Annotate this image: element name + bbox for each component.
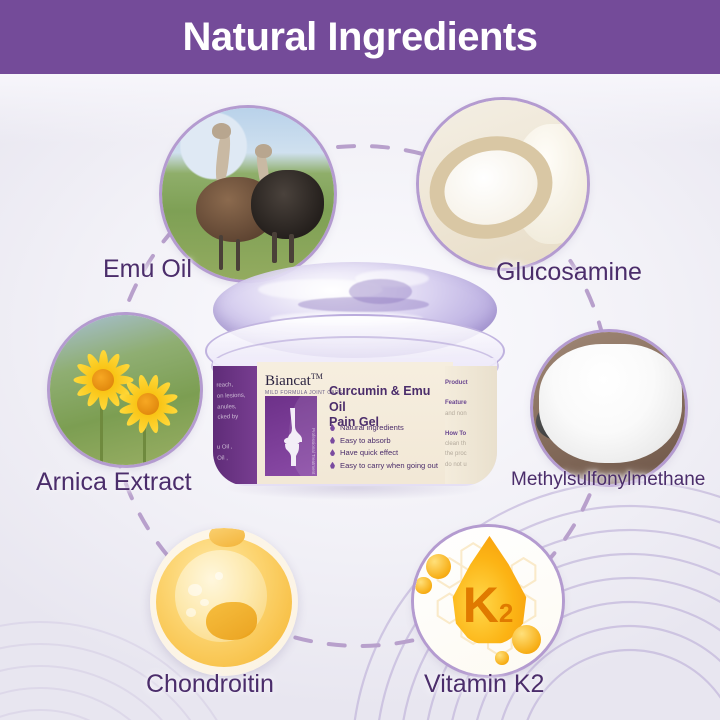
joint-logo-badge: Professional Treatment [265, 396, 317, 476]
label-front-panel: BiancatTM MILD FORMULA JOINT CARE Profes… [257, 362, 453, 484]
logo-side-text: Professional Treatment [311, 428, 316, 474]
ingredient-label-arnica-extract: Arnica Extract [36, 468, 192, 497]
knee-joint-icon [279, 408, 305, 466]
jar-body-label: reach,on lesions,anules,cked by u Oil ,O… [213, 358, 497, 486]
ingredient-bubble-methylsulfonylmethane[interactable] [533, 332, 685, 484]
label-right-panel: Product Feature and non How To clean th … [445, 366, 497, 484]
droplet-label: K2 [414, 580, 562, 630]
ingredient-label-chondroitin: Chondroitin [146, 670, 274, 699]
infographic-canvas: Natural Ingredients Emu Oil Glucosamine [0, 0, 720, 720]
ingredient-label-vitamin-k2: Vitamin K2 [424, 670, 544, 699]
label-right-text: Product Feature and non How To clean th … [445, 378, 493, 470]
amber-gel-drop-photo [150, 528, 298, 676]
arnica-flower-photo [50, 315, 200, 465]
list-item: Natural ingredients [329, 424, 453, 432]
powder-scoop-photo [419, 100, 587, 268]
header-banner: Natural Ingredients [0, 0, 720, 74]
ingredient-bubble-chondroitin[interactable] [150, 528, 298, 676]
ingredient-label-emu-oil: Emu Oil [103, 255, 192, 284]
ingredient-label-glucosamine: Glucosamine [496, 258, 642, 287]
ingredient-label-methylsulfonylmethane: Methylsulfonylmethane [511, 469, 705, 491]
ingredient-bubble-glucosamine[interactable] [419, 100, 587, 268]
white-powder-photo [533, 332, 685, 484]
ingredient-bubble-vitamin-k2[interactable]: K2 [414, 527, 562, 675]
ingredient-bubble-arnica-extract[interactable] [50, 315, 200, 465]
label-left-text: reach,on lesions,anules,cked by [216, 379, 261, 424]
page-title: Natural Ingredients [182, 15, 537, 60]
vitamin-droplet-icon: K2 [414, 527, 562, 675]
product-jar[interactable]: reach,on lesions,anules,cked by u Oil ,O… [205, 262, 505, 492]
list-item: Have quick effect [329, 449, 453, 457]
label-left-panel: reach,on lesions,anules,cked by u Oil ,O… [213, 366, 261, 484]
list-item: Easy to carry when going out [329, 462, 453, 470]
list-item: Easy to absorb [329, 437, 453, 445]
label-left-text-2: u Oil ,Oil , [217, 441, 262, 464]
brand-name: BiancatTM [265, 372, 323, 390]
product-benefit-list: Natural ingredients Easy to absorb Have … [329, 424, 453, 474]
